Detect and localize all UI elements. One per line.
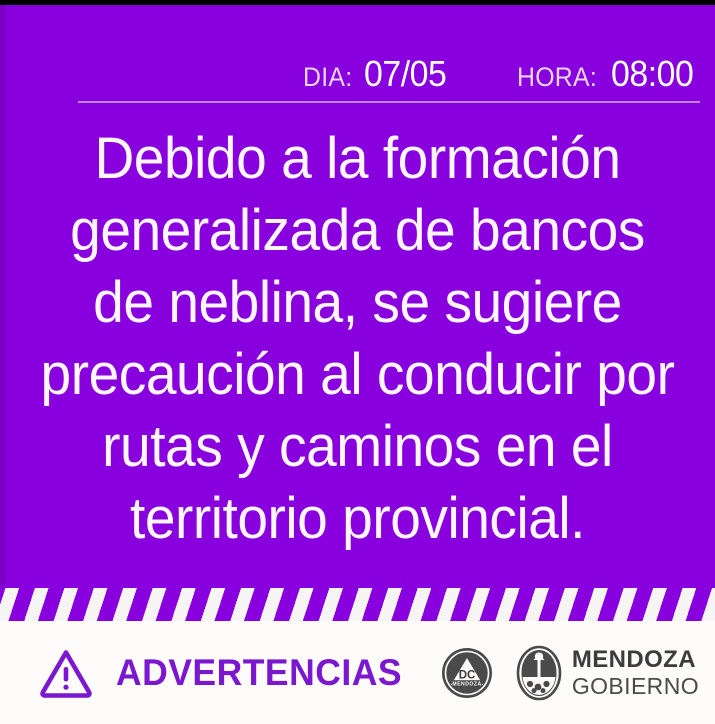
logo-line-gobierno: GOBIERNO bbox=[572, 675, 699, 698]
top-black-bar bbox=[0, 0, 715, 5]
warning-triangle-icon bbox=[38, 647, 94, 699]
hour-value: 08:00 bbox=[611, 53, 693, 95]
footer-logos: DC MENDOZA bbox=[441, 621, 699, 724]
header-divider bbox=[78, 101, 700, 103]
svg-text:MENDOZA: MENDOZA bbox=[452, 681, 481, 687]
weather-alert-poster: DIA: 07/05 HORA: 08:00 Debido a la forma… bbox=[0, 0, 715, 724]
mendoza-gobierno-logo: MENDOZA GOBIERNO bbox=[515, 644, 699, 702]
day-group: DIA: 07/05 bbox=[303, 53, 451, 95]
day-label: DIA: bbox=[303, 62, 352, 93]
hazard-stripe-band bbox=[0, 588, 715, 621]
hour-label: HORA: bbox=[517, 62, 597, 93]
mendoza-gobierno-text: MENDOZA GOBIERNO bbox=[572, 648, 699, 698]
logo-line-mendoza: MENDOZA bbox=[572, 648, 699, 672]
meta-row: DIA: 07/05 HORA: 08:00 bbox=[0, 53, 715, 95]
footer-brand: ADVERTENCIAS bbox=[38, 647, 414, 699]
alert-body: DIA: 07/05 HORA: 08:00 Debido a la forma… bbox=[0, 5, 715, 588]
hour-group: HORA: 08:00 bbox=[517, 53, 699, 95]
svg-text:DC: DC bbox=[459, 669, 476, 681]
left-edge-shadow bbox=[0, 5, 6, 585]
day-value: 07/05 bbox=[364, 53, 446, 95]
alert-message: Debido a la formación generalizada de ba… bbox=[35, 123, 680, 555]
dc-mendoza-logo: DC MENDOZA bbox=[441, 647, 493, 699]
footer: ADVERTENCIAS DC MENDOZA bbox=[0, 621, 715, 724]
argentina-coat-of-arms-icon bbox=[515, 644, 563, 702]
warning-label: ADVERTENCIAS bbox=[116, 652, 402, 694]
